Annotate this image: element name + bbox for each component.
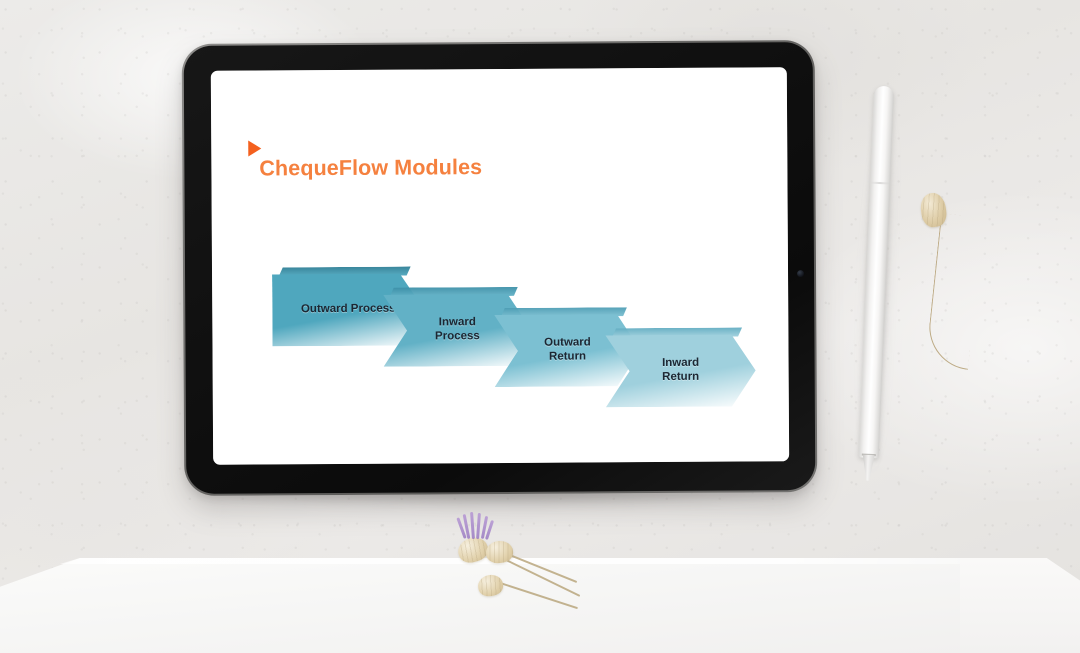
chevron-step-label: Outward Process [297,303,400,317]
chevron-label-line2: Return [544,350,591,364]
chevron-step-label: InwardProcess [431,317,484,344]
chevron-step-label: OutwardReturn [540,337,595,364]
tablet-device: ChequeFlow Modules Outward ProcessInward… [182,40,818,496]
process-chevron-diagram: Outward ProcessInwardProcessOutwardRetur… [272,267,753,420]
flower-stem [925,213,984,370]
chevron-label-line1: Inward [662,357,699,371]
flower-petal [470,512,475,539]
stylus-tip [862,455,875,481]
flower-stem [490,579,578,609]
chevron-step-4[interactable]: InwardReturn [605,334,755,407]
front-camera-icon [797,270,804,277]
flower-bud-texture [476,573,504,598]
tablet-screen[interactable]: ChequeFlow Modules Outward ProcessInward… [211,67,789,465]
chevron-step-label: InwardReturn [658,357,703,384]
chevron-label-line1: Outward [544,337,591,351]
tablet-bezel: ChequeFlow Modules Outward ProcessInward… [184,42,816,494]
presentation-slide[interactable]: ChequeFlow Modules Outward ProcessInward… [211,67,789,465]
dried-flower-bottom [440,505,590,633]
scene: ChequeFlow Modules Outward ProcessInward… [0,0,1080,633]
page-title: ChequeFlow Modules [259,155,482,181]
chevron-label-line1: Inward [435,317,480,331]
chevron-label-line2: Process [435,330,480,344]
dried-flower-right [905,185,1025,370]
play-triangle-icon [248,140,261,156]
marble-slab-right-corner [960,558,1080,653]
chevron-label-line2: Return [662,371,699,385]
